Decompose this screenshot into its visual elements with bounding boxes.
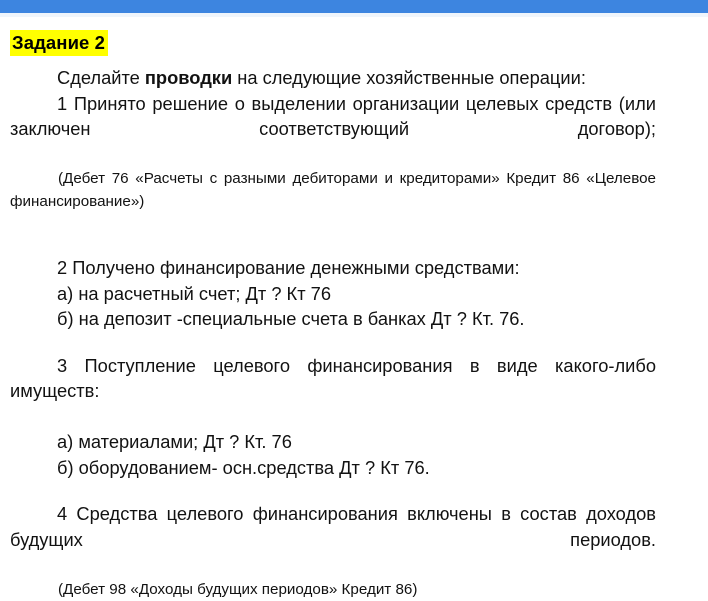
intro-paragraph: Сделайте проводки на следующие хозяйстве… (10, 65, 656, 91)
item-2-subitem-b: б) на депозит -специальные счета в банка… (10, 306, 656, 332)
top-accent-bar (0, 0, 708, 13)
item-3-subitem-b: б) оборудованием- осн.средства Дт ? Кт 7… (10, 455, 656, 481)
content-column: Сделайте проводки на следующие хозяйстве… (10, 65, 656, 601)
item-3-subitem-a: а) материалами; Дт ? Кт. 76 (10, 429, 656, 455)
item-2-subitem-a: а) на расчетный счет; Дт ? Кт 76 (10, 281, 656, 307)
item-4-note: (Дебет 98 «Доходы будущих периодов» Кред… (10, 578, 656, 601)
item-1-text: 1 Принято решение о выделении организаци… (10, 91, 656, 168)
item-4-text: 4 Средства целевого финансирования включ… (10, 501, 656, 578)
intro-text-bold: проводки (145, 67, 232, 88)
item-2-text: 2 Получено финансирование денежными сред… (10, 255, 656, 281)
item-3-text: 3 Поступление целевого финансирования в … (10, 353, 656, 430)
slide-body: Задание 2 Сделайте проводки на следующие… (0, 17, 708, 566)
intro-text-before-bold: Сделайте (57, 67, 145, 88)
page-title: Задание 2 (10, 30, 108, 56)
item-1-note: (Дебет 76 «Расчеты с разными дебиторами … (10, 167, 656, 236)
intro-text-after-bold: на следующие хозяйственные операции: (232, 67, 586, 88)
